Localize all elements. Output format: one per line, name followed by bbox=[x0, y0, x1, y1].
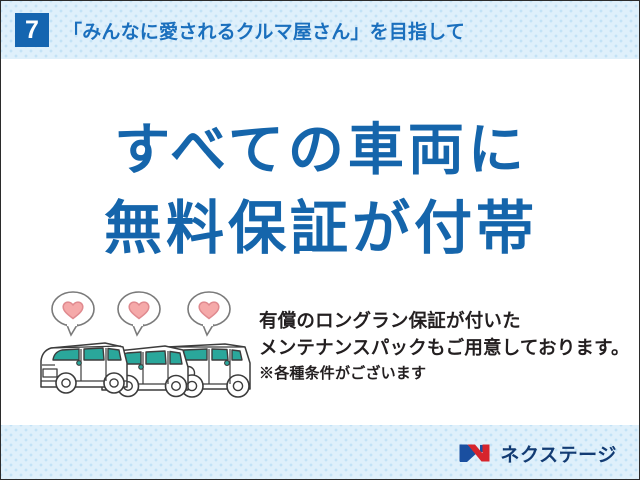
headline-line-2: 無料保証が付帯 bbox=[1, 181, 640, 265]
speech-bubble-center bbox=[118, 292, 160, 335]
brand-name: ネクステージ bbox=[500, 440, 617, 467]
cars-with-hearts-illustration bbox=[31, 289, 259, 401]
n-logo-mark-icon bbox=[458, 441, 492, 465]
body-copy: 有償のロングラン保証が付いた メンテナンスパックもご用意しております。 ※各種条… bbox=[259, 307, 631, 386]
body-copy-line-1: 有償のロングラン保証が付いた bbox=[259, 307, 631, 334]
header: 7 「みんなに愛されるクルマ屋さん」を目指して bbox=[1, 1, 640, 59]
header-title: 「みんなに愛されるクルマ屋さん」を目指して bbox=[63, 17, 465, 44]
promo-slide: 7 「みんなに愛されるクルマ屋さん」を目指して すべての車両に 無料保証が付帯 bbox=[0, 0, 640, 480]
body-copy-note: ※各種条件がございます bbox=[259, 361, 631, 386]
speech-bubble-right bbox=[188, 292, 230, 335]
brand-logo: ネクステージ bbox=[458, 439, 617, 467]
car-kei-van bbox=[41, 343, 127, 393]
body-copy-line-2: メンテナンスパックもご用意しております。 bbox=[259, 334, 631, 361]
illustration-svg bbox=[31, 289, 259, 401]
speech-bubble-left bbox=[52, 292, 94, 335]
headline-line-1: すべての車両に bbox=[1, 105, 640, 186]
step-number-badge: 7 bbox=[15, 13, 49, 47]
